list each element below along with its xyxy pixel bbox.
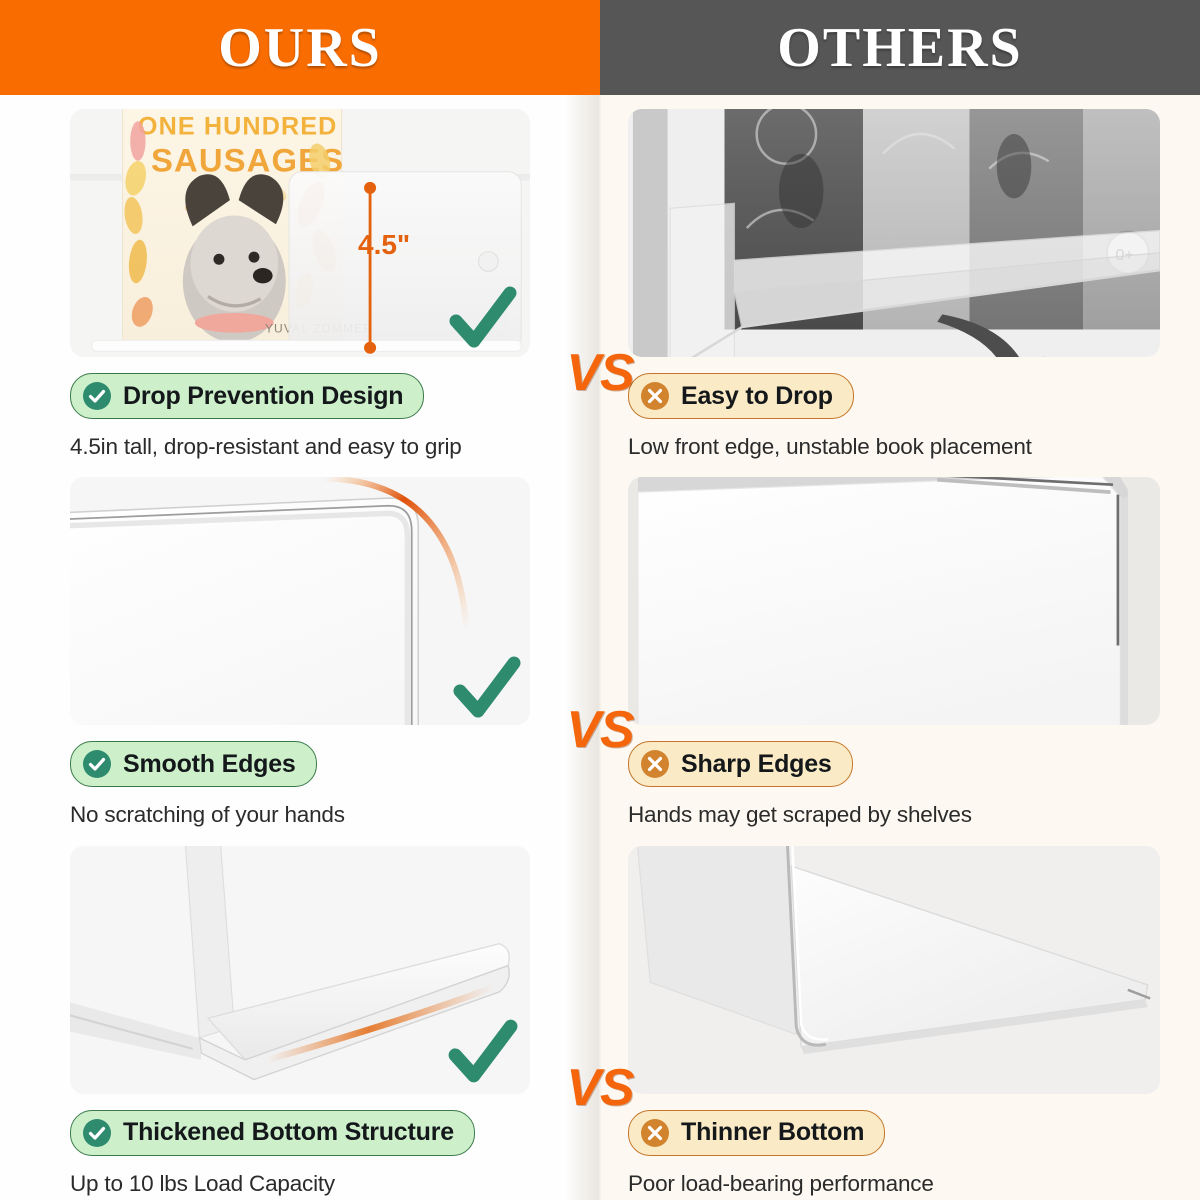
others-badge-2: Sharp Edges <box>628 741 853 787</box>
column-others: 0+ <box>600 95 1200 1200</box>
header-bar: OURS OTHERS <box>0 0 1200 95</box>
others-badge-1: Easy to Drop <box>628 373 854 419</box>
x-circle-icon <box>640 1118 670 1148</box>
ours-badge-1-label: Drop Prevention Design <box>123 382 403 411</box>
others-badge-3-label: Thinner Bottom <box>681 1118 864 1147</box>
check-mark-icon <box>444 281 520 353</box>
others-sub-3: Poor load-bearing performance <box>628 1171 1160 1197</box>
header-ours-title: OURS <box>218 16 382 80</box>
others-row-2-image <box>628 477 1160 725</box>
others-row-1: 0+ <box>600 95 1200 463</box>
others-badge-2-label: Sharp Edges <box>681 750 832 779</box>
check-circle-icon <box>82 1118 112 1148</box>
others-row-1-image: 0+ <box>628 109 1160 357</box>
others-sub-1: Low front edge, unstable book placement <box>628 434 1160 460</box>
check-circle-icon <box>82 749 112 779</box>
comparison-infographic: OURS OTHERS VS VS VS <box>0 0 1200 1200</box>
ours-row-3-image <box>70 846 530 1094</box>
check-mark-icon <box>442 1014 522 1088</box>
ours-sub-3: Up to 10 lbs Load Capacity <box>70 1171 530 1197</box>
x-circle-icon <box>640 381 670 411</box>
header-others: OTHERS <box>600 0 1200 95</box>
others-row-3-image <box>628 846 1160 1094</box>
x-circle-icon <box>640 749 670 779</box>
comparison-body: VS VS VS <box>0 95 1200 1200</box>
ours-badge-2: Smooth Edges <box>70 741 317 787</box>
column-ours: ONE HUNDRED SAUSAGES <box>0 95 600 1200</box>
ours-badge-3-label: Thickened Bottom Structure <box>123 1118 454 1147</box>
ours-row-2: Smooth Edges No scratching of your hands <box>0 463 600 831</box>
vs-separator-2: VS <box>566 700 633 760</box>
others-badge-3: Thinner Bottom <box>628 1110 885 1156</box>
header-others-title: OTHERS <box>777 16 1022 80</box>
ours-badge-2-label: Smooth Edges <box>123 750 296 779</box>
others-row-3: Thinner Bottom Poor load-bearing perform… <box>600 832 1200 1200</box>
others-row-2: Sharp Edges Hands may get scraped by she… <box>600 463 1200 831</box>
ours-badge-1: Drop Prevention Design <box>70 373 424 419</box>
dimension-label: 4.5" <box>358 229 410 261</box>
ours-row-2-image <box>70 477 530 725</box>
ours-sub-1: 4.5in tall, drop-resistant and easy to g… <box>70 434 530 460</box>
check-circle-icon <box>82 381 112 411</box>
vs-separator-1: VS <box>566 343 633 403</box>
vs-separator-3: VS <box>566 1058 633 1118</box>
check-mark-icon <box>448 651 524 723</box>
ours-badge-3: Thickened Bottom Structure <box>70 1110 475 1156</box>
sharp-edge-illustration <box>628 477 1160 725</box>
ours-sub-2: No scratching of your hands <box>70 802 530 828</box>
down-arrow-icon <box>628 109 1160 357</box>
ours-row-1: ONE HUNDRED SAUSAGES <box>0 95 600 463</box>
others-sub-2: Hands may get scraped by shelves <box>628 802 1160 828</box>
header-ours: OURS <box>0 0 600 95</box>
others-badge-1-label: Easy to Drop <box>681 382 833 411</box>
thin-bottom-illustration <box>628 846 1160 1094</box>
ours-row-3: Thickened Bottom Structure Up to 10 lbs … <box>0 832 600 1200</box>
ours-row-1-image: ONE HUNDRED SAUSAGES <box>70 109 530 357</box>
